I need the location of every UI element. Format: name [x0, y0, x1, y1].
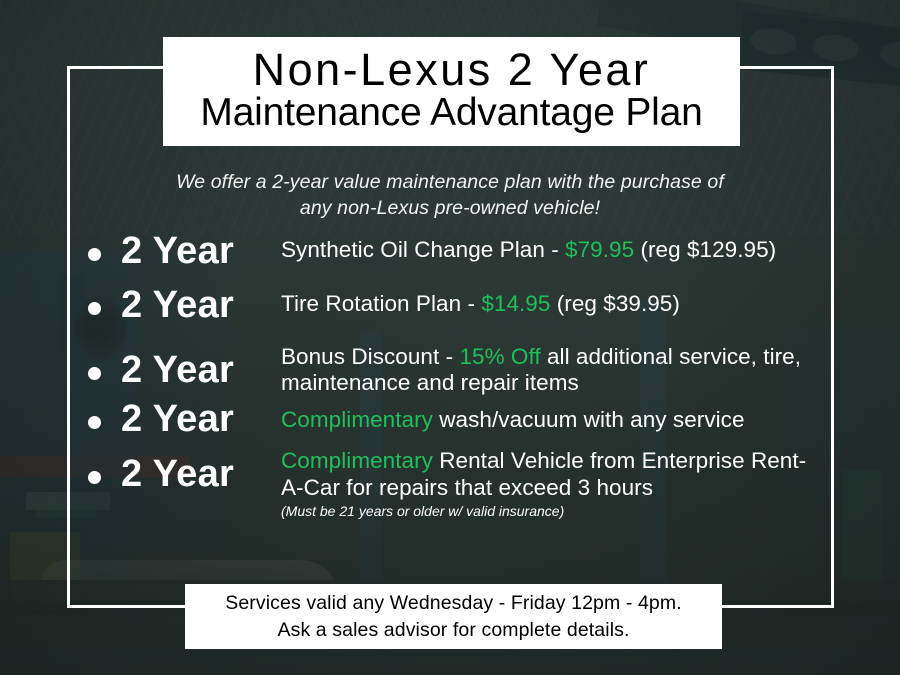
benefit-text-post: (reg $39.95) [550, 291, 679, 316]
bullet-dot-icon [88, 248, 101, 261]
benefit-term: 2 Year [121, 455, 281, 494]
benefit-highlight: $14.95 [481, 291, 550, 316]
page-title-line2: Maintenance Advantage Plan [200, 93, 702, 134]
benefit-text-pre: Tire Rotation Plan - [281, 291, 481, 316]
benefit-highlight: 15% Off [459, 344, 540, 369]
list-item: 2 Year Synthetic Oil Change Plan - $79.9… [88, 232, 828, 271]
benefit-text-pre: Bonus Discount - [281, 344, 459, 369]
list-item: 2 Year Tire Rotation Plan - $14.95 (reg … [88, 286, 828, 325]
benefit-highlight: $79.95 [565, 237, 634, 262]
benefit-highlight: Complimentary [281, 407, 433, 432]
bullet-dot-icon [88, 302, 101, 315]
list-item: 2 Year Bonus Discount - 15% Off all addi… [88, 339, 828, 396]
list-item: 2 Year Complimentary wash/vacuum with an… [88, 400, 828, 439]
list-item: 2 Year Complimentary Rental Vehicle from… [88, 443, 828, 519]
benefit-description: Tire Rotation Plan - $14.95 (reg $39.95) [281, 286, 828, 317]
subtitle-line2: any non-Lexus pre-owned vehicle! [150, 196, 750, 222]
benefit-term: 2 Year [121, 232, 281, 271]
benefit-description: Complimentary Rental Vehicle from Enterp… [281, 443, 828, 519]
benefit-description: Synthetic Oil Change Plan - $79.95 (reg … [281, 232, 828, 263]
footer-line1: Services valid any Wednesday - Friday 12… [225, 590, 681, 617]
footer-banner: Services valid any Wednesday - Friday 12… [185, 584, 722, 649]
title-banner: Non-Lexus 2 Year Maintenance Advantage P… [163, 37, 740, 146]
bullet-dot-icon [88, 416, 101, 429]
promotional-poster: Non-Lexus 2 Year Maintenance Advantage P… [0, 0, 900, 675]
benefits-list: 2 Year Synthetic Oil Change Plan - $79.9… [88, 232, 828, 519]
subtitle-line1: We offer a 2-year value maintenance plan… [150, 170, 750, 196]
benefit-term: 2 Year [121, 286, 281, 325]
bullet-dot-icon [88, 367, 101, 380]
benefit-text-post: wash/vacuum with any service [433, 407, 745, 432]
page-title-line1: Non-Lexus 2 Year [253, 47, 651, 93]
subtitle: We offer a 2-year value maintenance plan… [150, 170, 750, 222]
bullet-dot-icon [88, 471, 101, 484]
benefit-highlight: Complimentary [281, 448, 433, 473]
benefit-description: Complimentary wash/vacuum with any servi… [281, 400, 828, 433]
benefit-text-pre: Synthetic Oil Change Plan - [281, 237, 565, 262]
benefit-description: Bonus Discount - 15% Off all additional … [281, 339, 828, 396]
footer-line2: Ask a sales advisor for complete details… [277, 617, 629, 644]
benefit-term: 2 Year [121, 351, 281, 390]
benefit-term: 2 Year [121, 400, 281, 439]
benefit-text-post: (reg $129.95) [634, 237, 776, 262]
benefit-fine-print: (Must be 21 years or older w/ valid insu… [281, 503, 828, 520]
